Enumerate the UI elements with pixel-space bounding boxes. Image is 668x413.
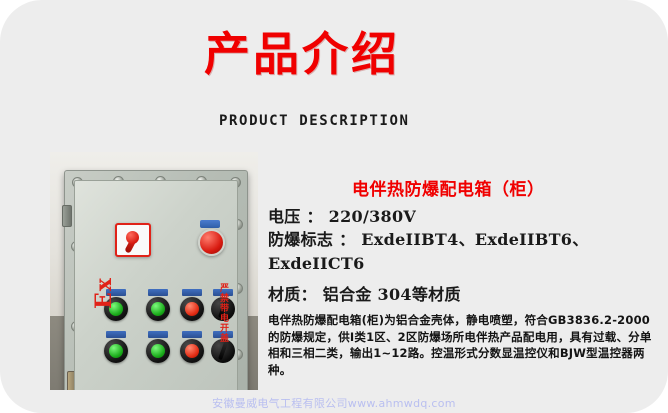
lamp-ring-icon (104, 339, 128, 363)
ex-mark-icon: Ex (91, 277, 117, 309)
lamp-ring-icon (146, 339, 170, 363)
rotary-handle-icon (124, 238, 136, 254)
page-subtitle: PRODUCT DESCRIPTION (219, 113, 410, 129)
indicator-lamp[interactable] (179, 331, 205, 363)
lamp-label-plate (148, 331, 168, 338)
product-description-card: 产品介绍 PRODUCT DESCRIPTION (0, 0, 668, 413)
lamp-ring-icon (146, 297, 170, 321)
explosion-proof-cabinet: Ex 严禁带电开盖 (64, 170, 248, 390)
lamp-label-plate (182, 331, 202, 338)
page-title: 产品介绍 (204, 28, 400, 80)
indicator-lamp[interactable] (179, 289, 205, 321)
lamp-label-plate (106, 331, 126, 338)
spec-material: 材质： 铝合金 304等材质 (268, 281, 461, 305)
lamp-label-plate (182, 289, 202, 296)
product-name: 电伴热防爆配电箱（柜） (352, 175, 545, 200)
footer-watermark: 安徽曼威电气工程有限公司www.ahmwdq.com (0, 395, 668, 411)
warning-label: 严禁带电开盖 (218, 283, 228, 343)
cabinet-door: Ex 严禁带电开盖 (74, 180, 238, 390)
spec-voltage: 电压 ： 220/380V (268, 203, 416, 227)
indicator-lamp[interactable] (103, 331, 129, 363)
spec-explosion-proof-mark: 防爆标志 ： ExdeIIBT4、ExdeIIBT6、ExdeIICT6 (268, 228, 660, 276)
lamp-label-plate (148, 289, 168, 296)
indicator-lamp[interactable] (145, 289, 171, 321)
lamp-ring-icon (180, 297, 204, 321)
product-description-text: 电伴热防爆配电箱(柜)为铝合金壳体，静电喷塑，符合GB3836.2-2000的防… (268, 312, 660, 378)
emergency-stop-label-plate (200, 220, 220, 228)
emergency-stop-button[interactable] (198, 229, 225, 256)
hinge-icon (62, 205, 72, 227)
indicator-lamp[interactable] (145, 331, 171, 363)
rotary-isolator-switch[interactable] (115, 223, 151, 257)
lamp-ring-icon (180, 339, 204, 363)
product-photo: Ex 严禁带电开盖 (50, 152, 258, 390)
